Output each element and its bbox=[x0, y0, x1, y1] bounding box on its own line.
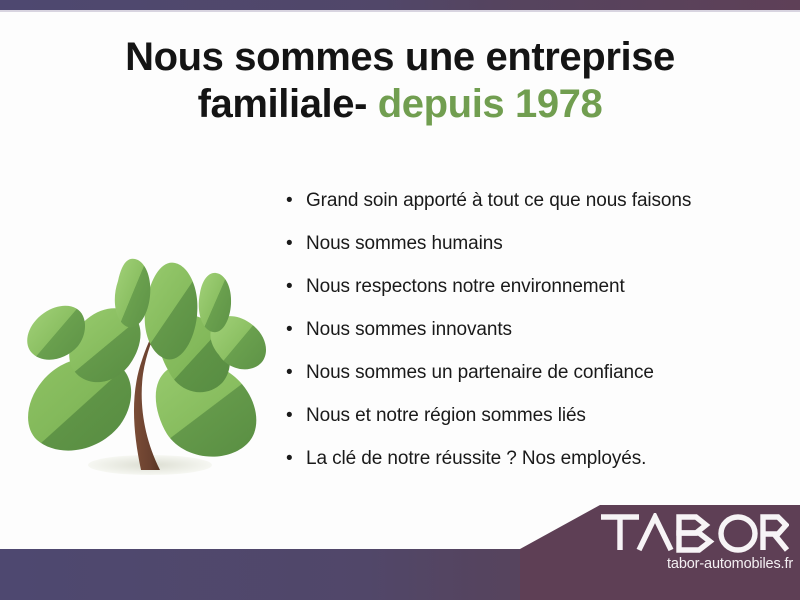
bullet-marker-icon: • bbox=[286, 406, 306, 425]
bullet-marker-icon: • bbox=[286, 277, 306, 296]
bullet-marker-icon: • bbox=[286, 234, 306, 253]
list-item-label: Nous et notre région sommes liés bbox=[306, 405, 586, 427]
list-item: • Nous sommes innovants bbox=[286, 319, 786, 362]
page-title: Nous sommes une entreprise familiale- de… bbox=[0, 34, 800, 128]
list-item-label: Nous sommes humains bbox=[306, 233, 503, 255]
list-item-label: Grand soin apporté à tout ce que nous fa… bbox=[306, 190, 691, 212]
slide-canvas: Nous sommes une entreprise familiale- de… bbox=[0, 0, 800, 600]
list-item-label: Nous sommes innovants bbox=[306, 319, 512, 341]
value-proposition-list: • Grand soin apporté à tout ce que nous … bbox=[286, 190, 786, 491]
top-accent-rule bbox=[0, 10, 800, 12]
list-item: • Nous sommes un partenaire de confiance bbox=[286, 362, 786, 405]
list-item: • Nous respectons notre environnement bbox=[286, 276, 786, 319]
list-item: • Grand soin apporté à tout ce que nous … bbox=[286, 190, 786, 233]
list-item: • Nous sommes humains bbox=[286, 233, 786, 276]
bullet-marker-icon: • bbox=[286, 449, 306, 468]
bullet-marker-icon: • bbox=[286, 191, 306, 210]
list-item-label: Nous respectons notre environnement bbox=[306, 276, 625, 298]
title-word-familiale: familiale bbox=[198, 82, 354, 126]
list-item: • La clé de notre réussite ? Nos employé… bbox=[286, 448, 786, 491]
brand-website-url: tabor-automobiles.fr bbox=[520, 556, 793, 572]
brand-logo-panel: tabor-automobiles.fr bbox=[520, 505, 800, 600]
list-item: • Nous et notre région sommes liés bbox=[286, 405, 786, 448]
title-accent-since: depuis 1978 bbox=[378, 82, 603, 126]
list-item-label: La clé de notre réussite ? Nos employés. bbox=[306, 448, 646, 470]
list-item-label: Nous sommes un partenaire de confiance bbox=[306, 362, 654, 384]
title-dash: - bbox=[354, 82, 367, 126]
top-accent-band bbox=[0, 0, 800, 10]
bullet-marker-icon: • bbox=[286, 363, 306, 382]
title-line-2: familiale- depuis 1978 bbox=[0, 81, 800, 128]
tree-illustration bbox=[12, 182, 278, 490]
bullet-marker-icon: • bbox=[286, 320, 306, 339]
title-line-1: Nous sommes une entreprise bbox=[0, 34, 800, 81]
tabor-wordmark-logo bbox=[599, 513, 789, 553]
